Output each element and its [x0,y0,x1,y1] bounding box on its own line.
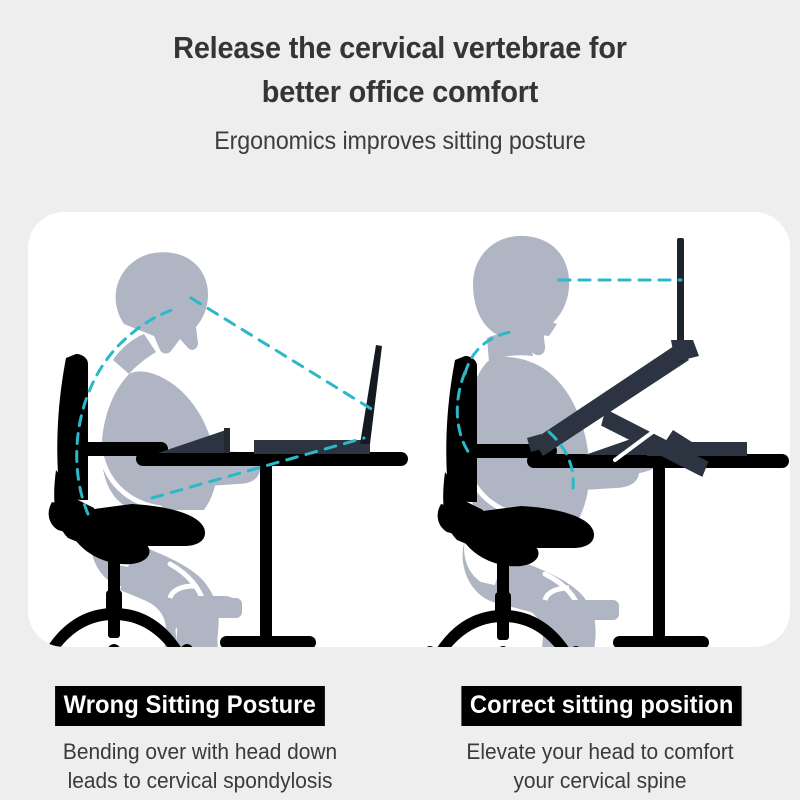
illustration-card [28,212,790,647]
torso-shape [465,357,590,528]
neck-shape [113,334,156,374]
foot-shape [174,614,218,647]
headline-line-1: Release the cervical vertebrae for [28,26,772,70]
sight-line-dashed [191,298,373,410]
correct-posture-illustration [409,212,790,647]
caption-correct-line-2: your cervical spine [410,766,790,795]
header-block: Release the cervical vertebrae for bette… [0,0,800,156]
caption-correct-line-1: Elevate your head to comfort [410,737,790,766]
caption-wrong-line-2: leads to cervical spondylosis [10,766,390,795]
caption-text-wrong: Bending over with head down leads to cer… [10,737,390,796]
caption-wrong-line-1: Bending over with head down [10,737,390,766]
headline-line-2: better office comfort [28,70,772,114]
wrong-posture-illustration [28,212,409,647]
wrong-posture-figure [33,252,408,647]
foot-block [168,598,242,618]
caption-wrong: Wrong Sitting Posture Bending over with … [0,686,400,796]
status-badge-wrong: Wrong Sitting Posture [55,686,324,726]
caption-row: Wrong Sitting Posture Bending over with … [0,686,800,796]
promo-page: Release the cervical vertebrae for bette… [0,0,800,800]
correct-posture-figure [422,236,789,647]
caption-correct: Correct sitting position Elevate your he… [400,686,800,796]
page-title: Release the cervical vertebrae for bette… [28,26,772,114]
caption-text-correct: Elevate your head to comfort your cervic… [410,737,790,796]
page-subtitle: Ergonomics improves sitting posture [28,127,772,156]
status-badge-correct: Correct sitting position [462,686,743,726]
